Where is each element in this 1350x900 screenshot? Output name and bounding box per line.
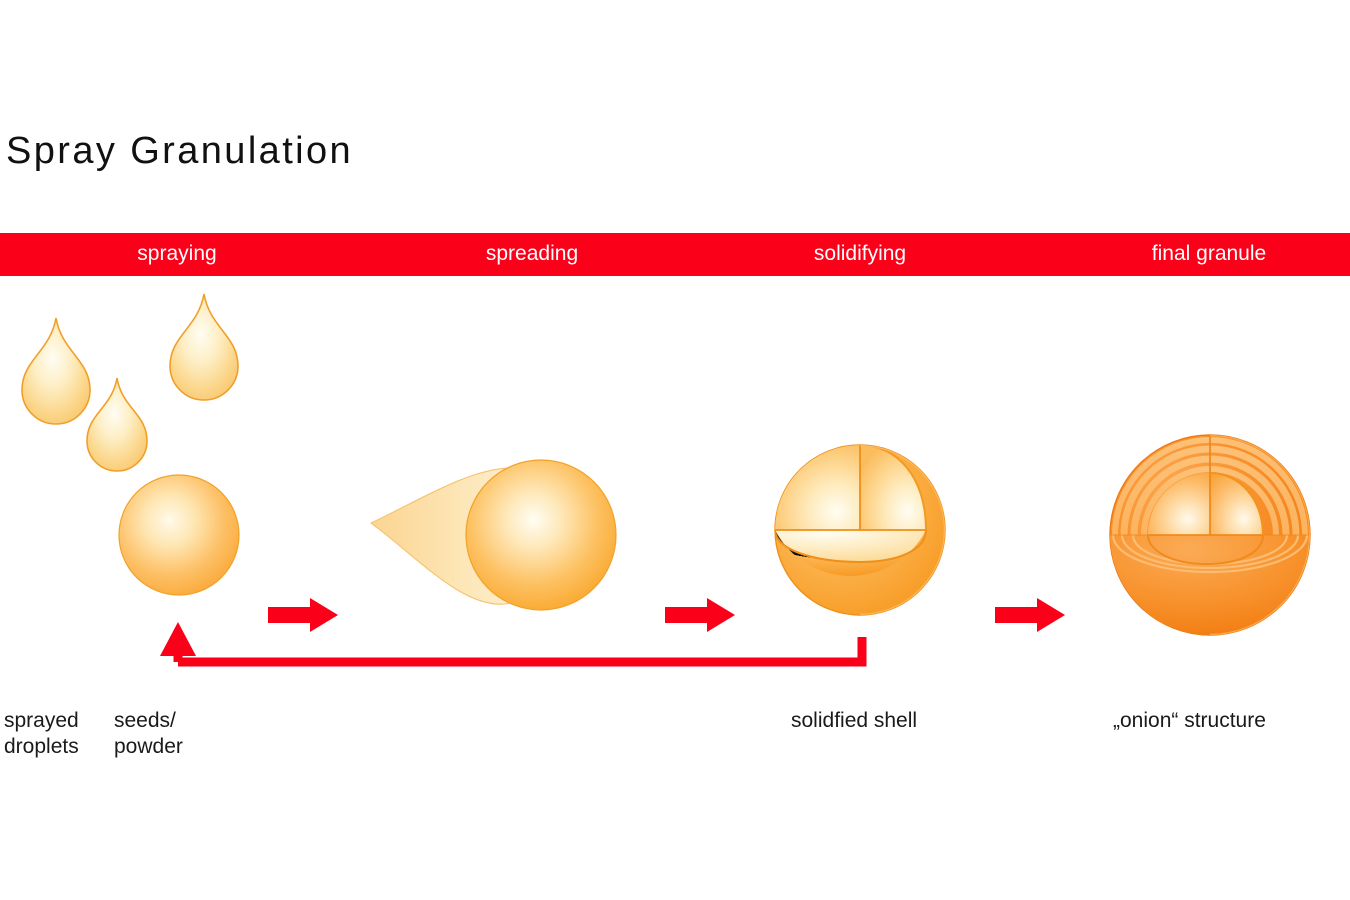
stage-label-spraying: spraying [137, 242, 216, 266]
arrow-solidifying-to-final [995, 598, 1065, 632]
page-title: Spray Granulation [6, 130, 353, 173]
caption-onion-structure: „onion“ structure [1113, 708, 1266, 734]
sprayed-droplets-group [22, 294, 238, 471]
stage-label-spreading: spreading [486, 242, 578, 266]
final-lower-bowl [1110, 535, 1310, 635]
stage-banner: spraying spreading solidifying final gra… [0, 233, 1350, 276]
final-granule-group [1110, 435, 1310, 635]
recycle-loop-arrowhead [160, 622, 196, 656]
solid-cut-vertical-face [775, 445, 860, 530]
diagram-canvas: Spray Granulation spraying spreading sol… [0, 0, 1350, 900]
caption-sprayed-droplets: sprayed droplets [4, 708, 79, 760]
droplet-icon-2 [87, 378, 147, 471]
droplet-icon-3 [170, 294, 238, 400]
flow-arrows-group [268, 598, 1065, 632]
spreading-sphere-group [371, 460, 616, 610]
stage-label-solidifying: solidifying [814, 242, 906, 266]
arrow-spraying-to-spreading [268, 598, 338, 632]
stage-label-final-granule: final granule [1152, 242, 1266, 266]
droplet-icon-1 [22, 318, 90, 424]
solidifying-sphere-group [775, 445, 945, 615]
arrow-spreading-to-solidifying [665, 598, 735, 632]
solid-inner-upper-right [860, 445, 926, 530]
recycle-loop-arrow [160, 622, 862, 662]
seed-sphere [119, 475, 239, 595]
recycle-loop-path [178, 637, 862, 662]
caption-solidified-shell: solidfied shell [791, 708, 917, 734]
caption-seeds-powder: seeds/ powder [114, 708, 183, 760]
